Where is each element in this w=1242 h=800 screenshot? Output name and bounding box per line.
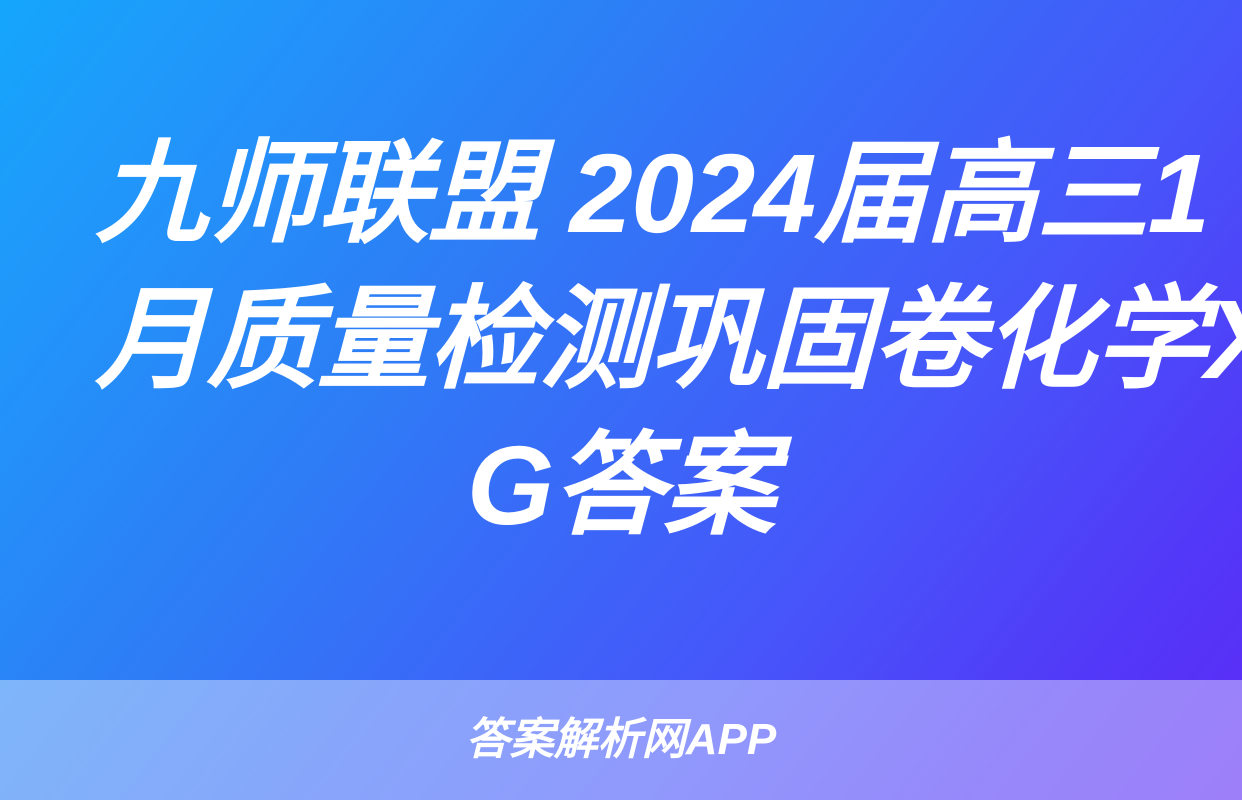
page-title-line-1: 九师联盟 2024届高三1: [95, 121, 1148, 267]
watermark-app-label: 答案解析网APP: [466, 718, 776, 762]
watermark-band: 答案解析网APP: [0, 680, 1242, 800]
cover-page: 九师联盟 2024届高三1 月质量检测巩固卷化学X G答案 答案解析网APP: [0, 0, 1242, 800]
page-title-line-2: 月质量检测巩固卷化学X: [95, 267, 1148, 413]
hero-section: 九师联盟 2024届高三1 月质量检测巩固卷化学X G答案: [0, 0, 1242, 680]
page-title-line-3: G答案: [95, 413, 1148, 559]
page-title: 九师联盟 2024届高三1 月质量检测巩固卷化学X G答案: [96, 121, 1146, 559]
